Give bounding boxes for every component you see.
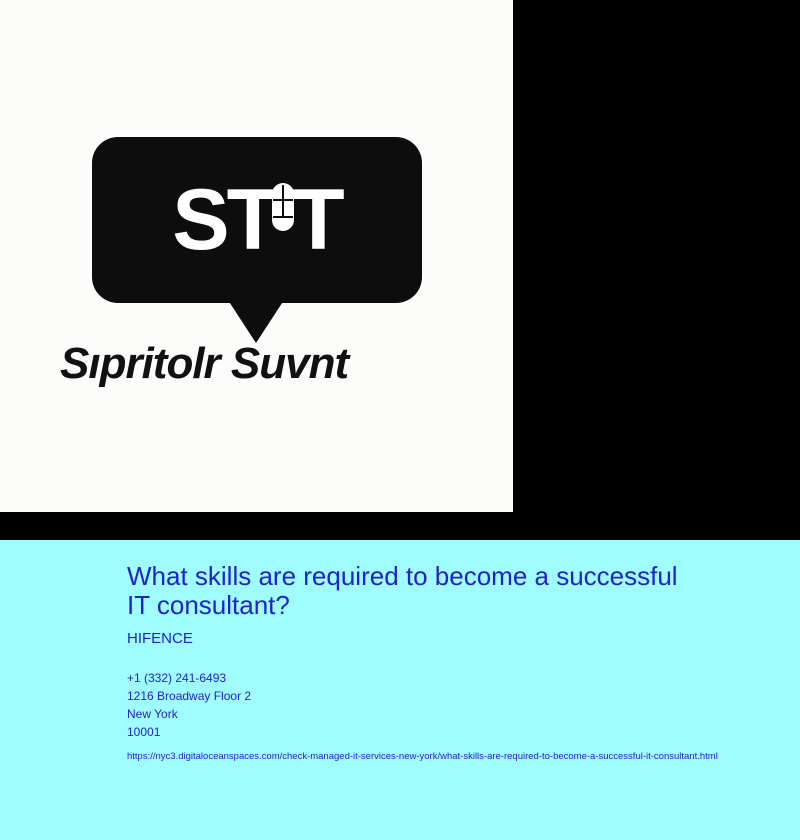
logo-wordmark-left: ST	[172, 177, 276, 263]
page-title: What skills are required to become a suc…	[127, 562, 687, 620]
logo-tagline: Sıpritolr Suvnt	[60, 340, 490, 388]
source-url[interactable]: https://nyc3.digitaloceanspaces.com/chec…	[127, 748, 800, 765]
brand-logo: ST T	[92, 137, 422, 337]
contact-phone: +1 (332) 241-6493	[127, 669, 800, 687]
mouse-seam-lower	[273, 216, 293, 218]
logo-wordmark-right: T	[292, 177, 342, 263]
logo-panel: ST T Sıpritolr Suvnt	[0, 0, 513, 512]
contact-zip: 10001	[127, 723, 800, 741]
speech-bubble-tail-icon	[226, 297, 286, 343]
brand-name: HIFENCE	[127, 629, 800, 648]
logo-region: ST T Sıpritolr Suvnt	[0, 0, 800, 540]
contact-block: +1 (332) 241-6493 1216 Broadway Floor 2 …	[127, 669, 800, 741]
info-region: What skills are required to become a suc…	[0, 540, 800, 840]
contact-street: 1216 Broadway Floor 2	[127, 687, 800, 705]
info-content: What skills are required to become a suc…	[127, 562, 800, 765]
mouse-seam-upper	[273, 199, 293, 201]
contact-city: New York	[127, 705, 800, 723]
computer-mouse-icon	[272, 183, 294, 231]
logo-wordmark: ST T	[92, 137, 422, 303]
